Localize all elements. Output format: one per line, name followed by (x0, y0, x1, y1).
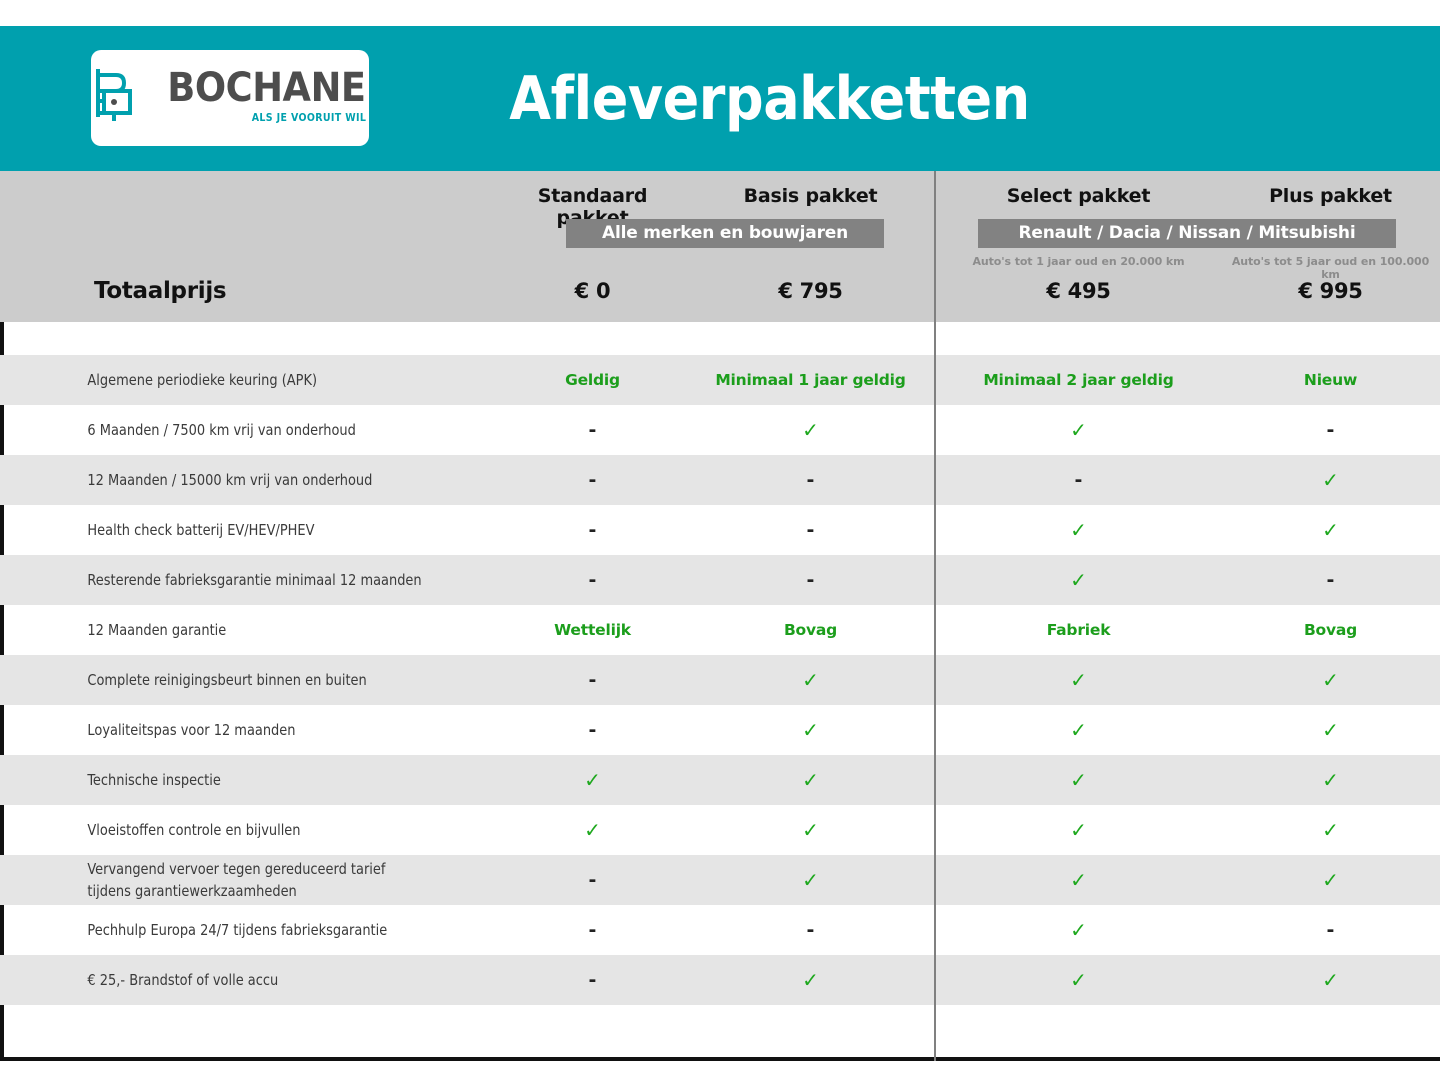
table-footer-row (0, 1005, 1440, 1057)
value-dash: - (589, 519, 597, 541)
value-check: ✓ (1070, 718, 1087, 742)
feature-value: ✓ (936, 720, 1221, 741)
feature-value: - (685, 471, 936, 490)
table-row: Loyaliteitspas voor 12 maanden-✓✓✓ (0, 705, 1440, 755)
value-check: ✓ (1070, 418, 1087, 442)
feature-value: - (685, 521, 936, 540)
value-dash: - (807, 519, 815, 541)
table-row: Technische inspectie✓✓✓✓ (0, 755, 1440, 805)
value-dash: - (807, 569, 815, 591)
value-check: ✓ (1070, 918, 1087, 942)
value-check: ✓ (802, 668, 819, 692)
feature-value: - (1221, 921, 1440, 940)
value-check: ✓ (1322, 868, 1339, 892)
value-dash: - (589, 469, 597, 491)
feature-value: ✓ (1221, 670, 1440, 691)
feature-rows: Algemene periodieke keuring (APK)GeldigM… (0, 355, 1440, 1005)
value-text: Geldig (565, 371, 620, 389)
feature-value: ✓ (936, 770, 1221, 791)
feature-value: - (500, 971, 685, 990)
feature-value: ✓ (685, 770, 936, 791)
value-dash: - (1327, 569, 1335, 591)
feature-value: Minimaal 1 jaar geldig (685, 371, 936, 389)
value-check: ✓ (1322, 818, 1339, 842)
value-check: ✓ (1070, 968, 1087, 992)
feature-value: - (500, 721, 685, 740)
group-badge-right: Renault / Dacia / Nissan / Mitsubishi (978, 219, 1396, 248)
value-text: Bovag (1304, 621, 1357, 639)
feature-value: ✓ (936, 570, 1221, 591)
value-check: ✓ (802, 768, 819, 792)
feature-value: ✓ (685, 870, 936, 891)
feature-value: Bovag (685, 621, 936, 639)
value-dash: - (1075, 469, 1083, 491)
group-badges-row: Alle merken en bouwjaren Renault / Dacia… (0, 219, 1440, 248)
feature-label: Vervangend vervoer tegen gereduceerd tar… (0, 858, 465, 903)
table-row: Vloeistoffen controle en bijvullen✓✓✓✓ (0, 805, 1440, 855)
totaalprijs-row: Totaalprijs € 0 € 795 € 495 € 995 (0, 278, 1440, 304)
feature-value: ✓ (685, 820, 936, 841)
feature-value: - (685, 921, 936, 940)
feature-value: Bovag (1221, 621, 1440, 639)
feature-value: - (500, 521, 685, 540)
feature-label: Complete reinigingsbeurt binnen en buite… (0, 669, 465, 691)
value-check: ✓ (1070, 518, 1087, 542)
value-check: ✓ (802, 968, 819, 992)
value-check: ✓ (584, 818, 601, 842)
feature-value: ✓ (685, 420, 936, 441)
row-left-marker (0, 1005, 4, 1057)
value-text: Fabriek (1047, 621, 1111, 639)
feature-label: Vloeistoffen controle en bijvullen (0, 819, 465, 841)
value-text: Nieuw (1304, 371, 1357, 389)
feature-value: Geldig (500, 371, 685, 389)
feature-value: ✓ (685, 670, 936, 691)
top-white-strip (0, 0, 1440, 26)
feature-value: ✓ (936, 920, 1221, 941)
value-check: ✓ (1322, 768, 1339, 792)
value-text: Minimaal 1 jaar geldig (715, 371, 905, 389)
feature-label: 12 Maanden / 15000 km vrij van onderhoud (0, 469, 465, 491)
feature-value: - (500, 421, 685, 440)
row-left-marker (0, 322, 4, 355)
table-row: Vervangend vervoer tegen gereduceerd tar… (0, 855, 1440, 905)
feature-value: - (500, 921, 685, 940)
value-dash: - (589, 719, 597, 741)
value-text: Minimaal 2 jaar geldig (983, 371, 1173, 389)
feature-value: - (685, 571, 936, 590)
page-header: BOCHANE ALS JE VOORUIT WIL Afleverpakket… (0, 26, 1440, 171)
value-check: ✓ (802, 418, 819, 442)
feature-value: - (1221, 421, 1440, 440)
value-text: Bovag (784, 621, 837, 639)
value-text: Wettelijk (554, 621, 631, 639)
value-check: ✓ (1070, 868, 1087, 892)
feature-label: Resterende fabrieksgarantie minimaal 12 … (0, 569, 465, 591)
feature-value: ✓ (1221, 470, 1440, 491)
table-row: Complete reinigingsbeurt binnen en buite… (0, 655, 1440, 705)
feature-value: ✓ (500, 820, 685, 841)
feature-label: Algemene periodieke keuring (APK) (0, 369, 465, 391)
feature-value: ✓ (500, 770, 685, 791)
feature-value: Minimaal 2 jaar geldig (936, 371, 1221, 389)
feature-value: ✓ (936, 820, 1221, 841)
value-check: ✓ (1322, 718, 1339, 742)
value-check: ✓ (1070, 768, 1087, 792)
feature-value: ✓ (1221, 970, 1440, 991)
feature-value: ✓ (1221, 770, 1440, 791)
value-check: ✓ (1070, 818, 1087, 842)
value-dash: - (589, 669, 597, 691)
feature-value: ✓ (1221, 870, 1440, 891)
value-check: ✓ (584, 768, 601, 792)
value-check: ✓ (1322, 968, 1339, 992)
feature-value: ✓ (1221, 520, 1440, 541)
table-row: 12 Maanden / 15000 km vrij van onderhoud… (0, 455, 1440, 505)
value-check: ✓ (1322, 468, 1339, 492)
value-check: ✓ (802, 718, 819, 742)
feature-value: ✓ (685, 720, 936, 741)
value-check: ✓ (802, 868, 819, 892)
table-row: Health check batterij EV/HEV/PHEV--✓✓ (0, 505, 1440, 555)
totaalprijs-label: Totaalprijs (0, 278, 500, 304)
value-check: ✓ (802, 818, 819, 842)
price-standaard: € 0 (500, 279, 685, 303)
feature-label: Loyaliteitspas voor 12 maanden (0, 719, 465, 741)
feature-value: - (500, 671, 685, 690)
table-row: 12 Maanden garantieWettelijkBovagFabriek… (0, 605, 1440, 655)
value-dash: - (589, 969, 597, 991)
price-basis: € 795 (685, 279, 936, 303)
feature-value: - (500, 871, 685, 890)
feature-value: ✓ (1221, 720, 1440, 741)
feature-value: ✓ (936, 870, 1221, 891)
feature-label: Technische inspectie (0, 769, 465, 791)
feature-value: Nieuw (1221, 371, 1440, 389)
column-group-divider (934, 171, 936, 1061)
value-check: ✓ (1322, 518, 1339, 542)
package-comparison-table: Standaard pakket Basis pakket Select pak… (0, 171, 1440, 1061)
value-dash: - (589, 919, 597, 941)
page-title: Afleverpakketten (72, 64, 1368, 134)
bottom-white-strip (0, 1061, 1440, 1085)
value-dash: - (589, 419, 597, 441)
value-dash: - (1327, 419, 1335, 441)
table-header-band: Standaard pakket Basis pakket Select pak… (0, 171, 1440, 322)
price-plus: € 995 (1221, 279, 1440, 303)
feature-value: ✓ (685, 970, 936, 991)
feature-value: ✓ (936, 520, 1221, 541)
table-row: Resterende fabrieksgarantie minimaal 12 … (0, 555, 1440, 605)
feature-value: ✓ (1221, 820, 1440, 841)
feature-label: € 25,- Brandstof of volle accu (0, 969, 465, 991)
table-row: € 25,- Brandstof of volle accu-✓✓✓ (0, 955, 1440, 1005)
value-dash: - (807, 919, 815, 941)
value-dash: - (1327, 919, 1335, 941)
group-badge-left: Alle merken en bouwjaren (566, 219, 884, 248)
feature-label: 12 Maanden garantie (0, 619, 465, 641)
feature-label: Health check batterij EV/HEV/PHEV (0, 519, 465, 541)
feature-value: ✓ (936, 970, 1221, 991)
feature-value: Wettelijk (500, 621, 685, 639)
feature-value: Fabriek (936, 621, 1221, 639)
feature-value: - (500, 471, 685, 490)
feature-label: 6 Maanden / 7500 km vrij van onderhoud (0, 419, 465, 441)
value-check: ✓ (1070, 668, 1087, 692)
feature-value: ✓ (936, 420, 1221, 441)
feature-value: - (500, 571, 685, 590)
feature-value: ✓ (936, 670, 1221, 691)
value-check: ✓ (1322, 668, 1339, 692)
table-spacer-row (0, 322, 1440, 355)
value-dash: - (589, 869, 597, 891)
value-dash: - (807, 469, 815, 491)
feature-label: Pechhulp Europa 24/7 tijdens fabrieksgar… (0, 919, 465, 941)
feature-value: - (936, 471, 1221, 490)
value-dash: - (589, 569, 597, 591)
table-row: 6 Maanden / 7500 km vrij van onderhoud-✓… (0, 405, 1440, 455)
value-check: ✓ (1070, 568, 1087, 592)
feature-value: - (1221, 571, 1440, 590)
price-select: € 495 (936, 279, 1221, 303)
table-row: Algemene periodieke keuring (APK)GeldigM… (0, 355, 1440, 405)
table-row: Pechhulp Europa 24/7 tijdens fabrieksgar… (0, 905, 1440, 955)
